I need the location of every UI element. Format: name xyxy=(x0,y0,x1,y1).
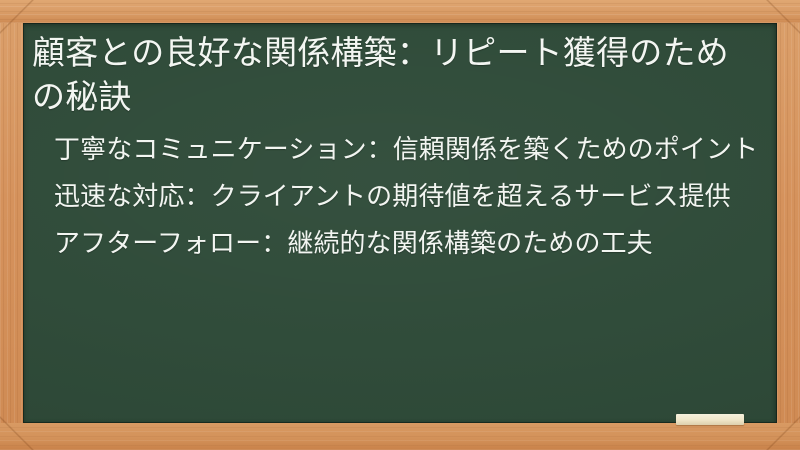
chalk-stick xyxy=(676,414,744,425)
bullet-list: 丁寧なコミュニケーション：信頼関係を築くためのポイント 迅速な対応：クライアント… xyxy=(32,132,759,261)
wooden-frame-bottom-ledge xyxy=(0,423,800,450)
chalkboard-slide: 顧客との良好な関係構築：リピート獲得のための秘訣 丁寧なコミュニケーション：信頼… xyxy=(0,0,800,450)
slide-title: 顧客との良好な関係構築：リピート獲得のための秘訣 xyxy=(32,31,759,118)
wooden-frame-top-rail xyxy=(0,0,800,23)
bullet-item-2: 迅速な対応：クライアントの期待値を超えるサービス提供 xyxy=(54,179,759,214)
chalkboard-surface: 顧客との良好な関係構築：リピート獲得のための秘訣 丁寧なコミュニケーション：信頼… xyxy=(23,23,777,423)
bullet-item-3: アフターフォロー：継続的な関係構築のための工夫 xyxy=(54,226,759,261)
bullet-item-1: 丁寧なコミュニケーション：信頼関係を築くためのポイント xyxy=(54,132,759,167)
